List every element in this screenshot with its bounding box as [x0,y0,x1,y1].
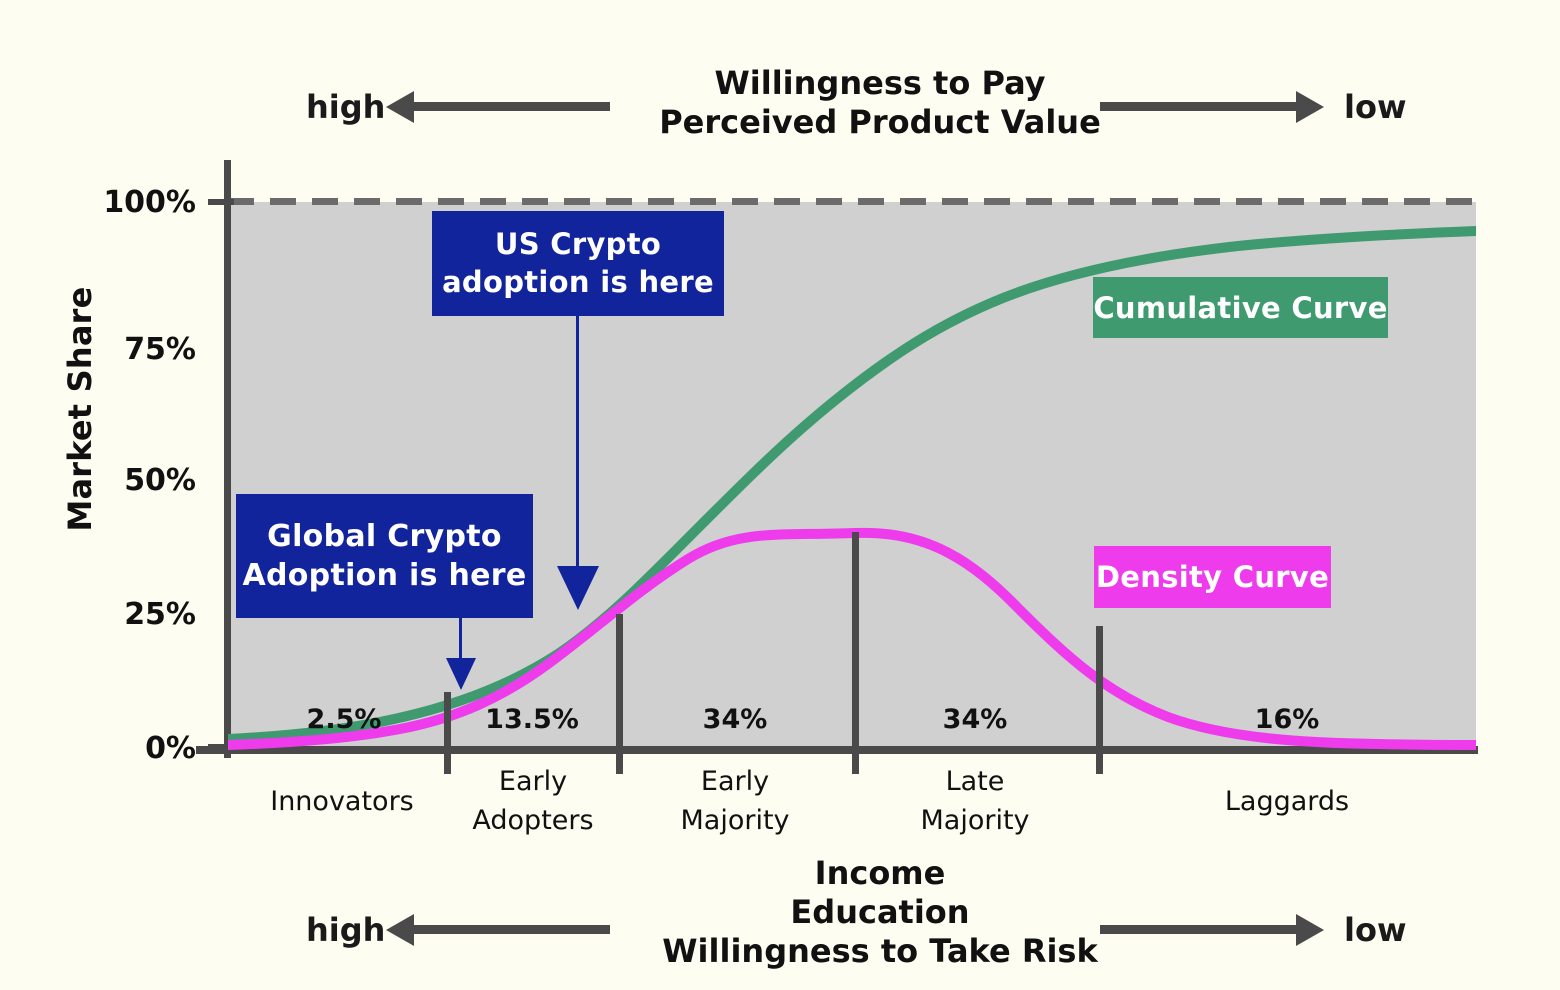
segment-label-laggards: Laggards [1098,782,1476,821]
segment-label-early-adopters: Early Adopters [448,762,618,840]
top-axis-low-label: low [1344,88,1407,126]
callout-us-crypto[interactable]: US Crypto adoption is here [432,211,724,316]
segment-label-late-majority: Late Majority [854,762,1096,840]
segment-share-late-majority: 34% [856,704,1094,735]
segment-label-early-majority: Early Majority [618,762,852,840]
y-tick-label-0: 0% [96,731,196,766]
y-tick-label-25: 25% [96,597,196,632]
top-right-arrow-shaft [1100,102,1298,111]
legend-density-curve[interactable]: Density Curve [1094,546,1331,608]
top-right-arrow-head-icon [1296,91,1324,123]
segment-divider-early-majority [852,532,859,774]
callout-global-crypto[interactable]: Global Crypto Adoption is here [236,494,533,618]
segment-divider-late-majority [1096,626,1103,774]
bottom-left-arrow-head-icon [386,914,414,946]
segment-share-early-majority: 34% [620,704,850,735]
y-tick-label-75: 75% [96,332,196,367]
segment-divider-early-adopters [616,614,623,774]
segment-share-laggards: 16% [1100,704,1474,735]
top-left-arrow-head-icon [386,91,414,123]
y-tick-label-100: 100% [96,185,196,220]
callout-us-crypto-stem [576,316,579,568]
segment-share-innovators: 2.5% [248,704,440,735]
callout-us-crypto-arrow-icon [557,566,599,610]
bottom-axis-low-label: low [1344,911,1407,949]
top-axis-high-label: high [306,88,385,126]
y-tick-label-50: 50% [96,463,196,498]
segment-label-innovators: Innovators [244,782,440,821]
callout-global-crypto-stem [459,618,462,660]
segment-share-early-adopters: 13.5% [450,704,614,735]
chart-canvas: high Willingness to Pay Perceived Produc… [0,0,1560,990]
bottom-right-arrow-head-icon [1296,914,1324,946]
bottom-right-arrow-shaft [1100,925,1298,934]
bottom-axis-center-note: Income Education Willingness to Take Ris… [540,854,1220,971]
y-axis-title: Market Share [61,259,99,559]
legend-cumulative-curve[interactable]: Cumulative Curve [1093,277,1388,338]
bottom-axis-high-label: high [306,911,385,949]
callout-global-crypto-arrow-icon [446,658,476,690]
